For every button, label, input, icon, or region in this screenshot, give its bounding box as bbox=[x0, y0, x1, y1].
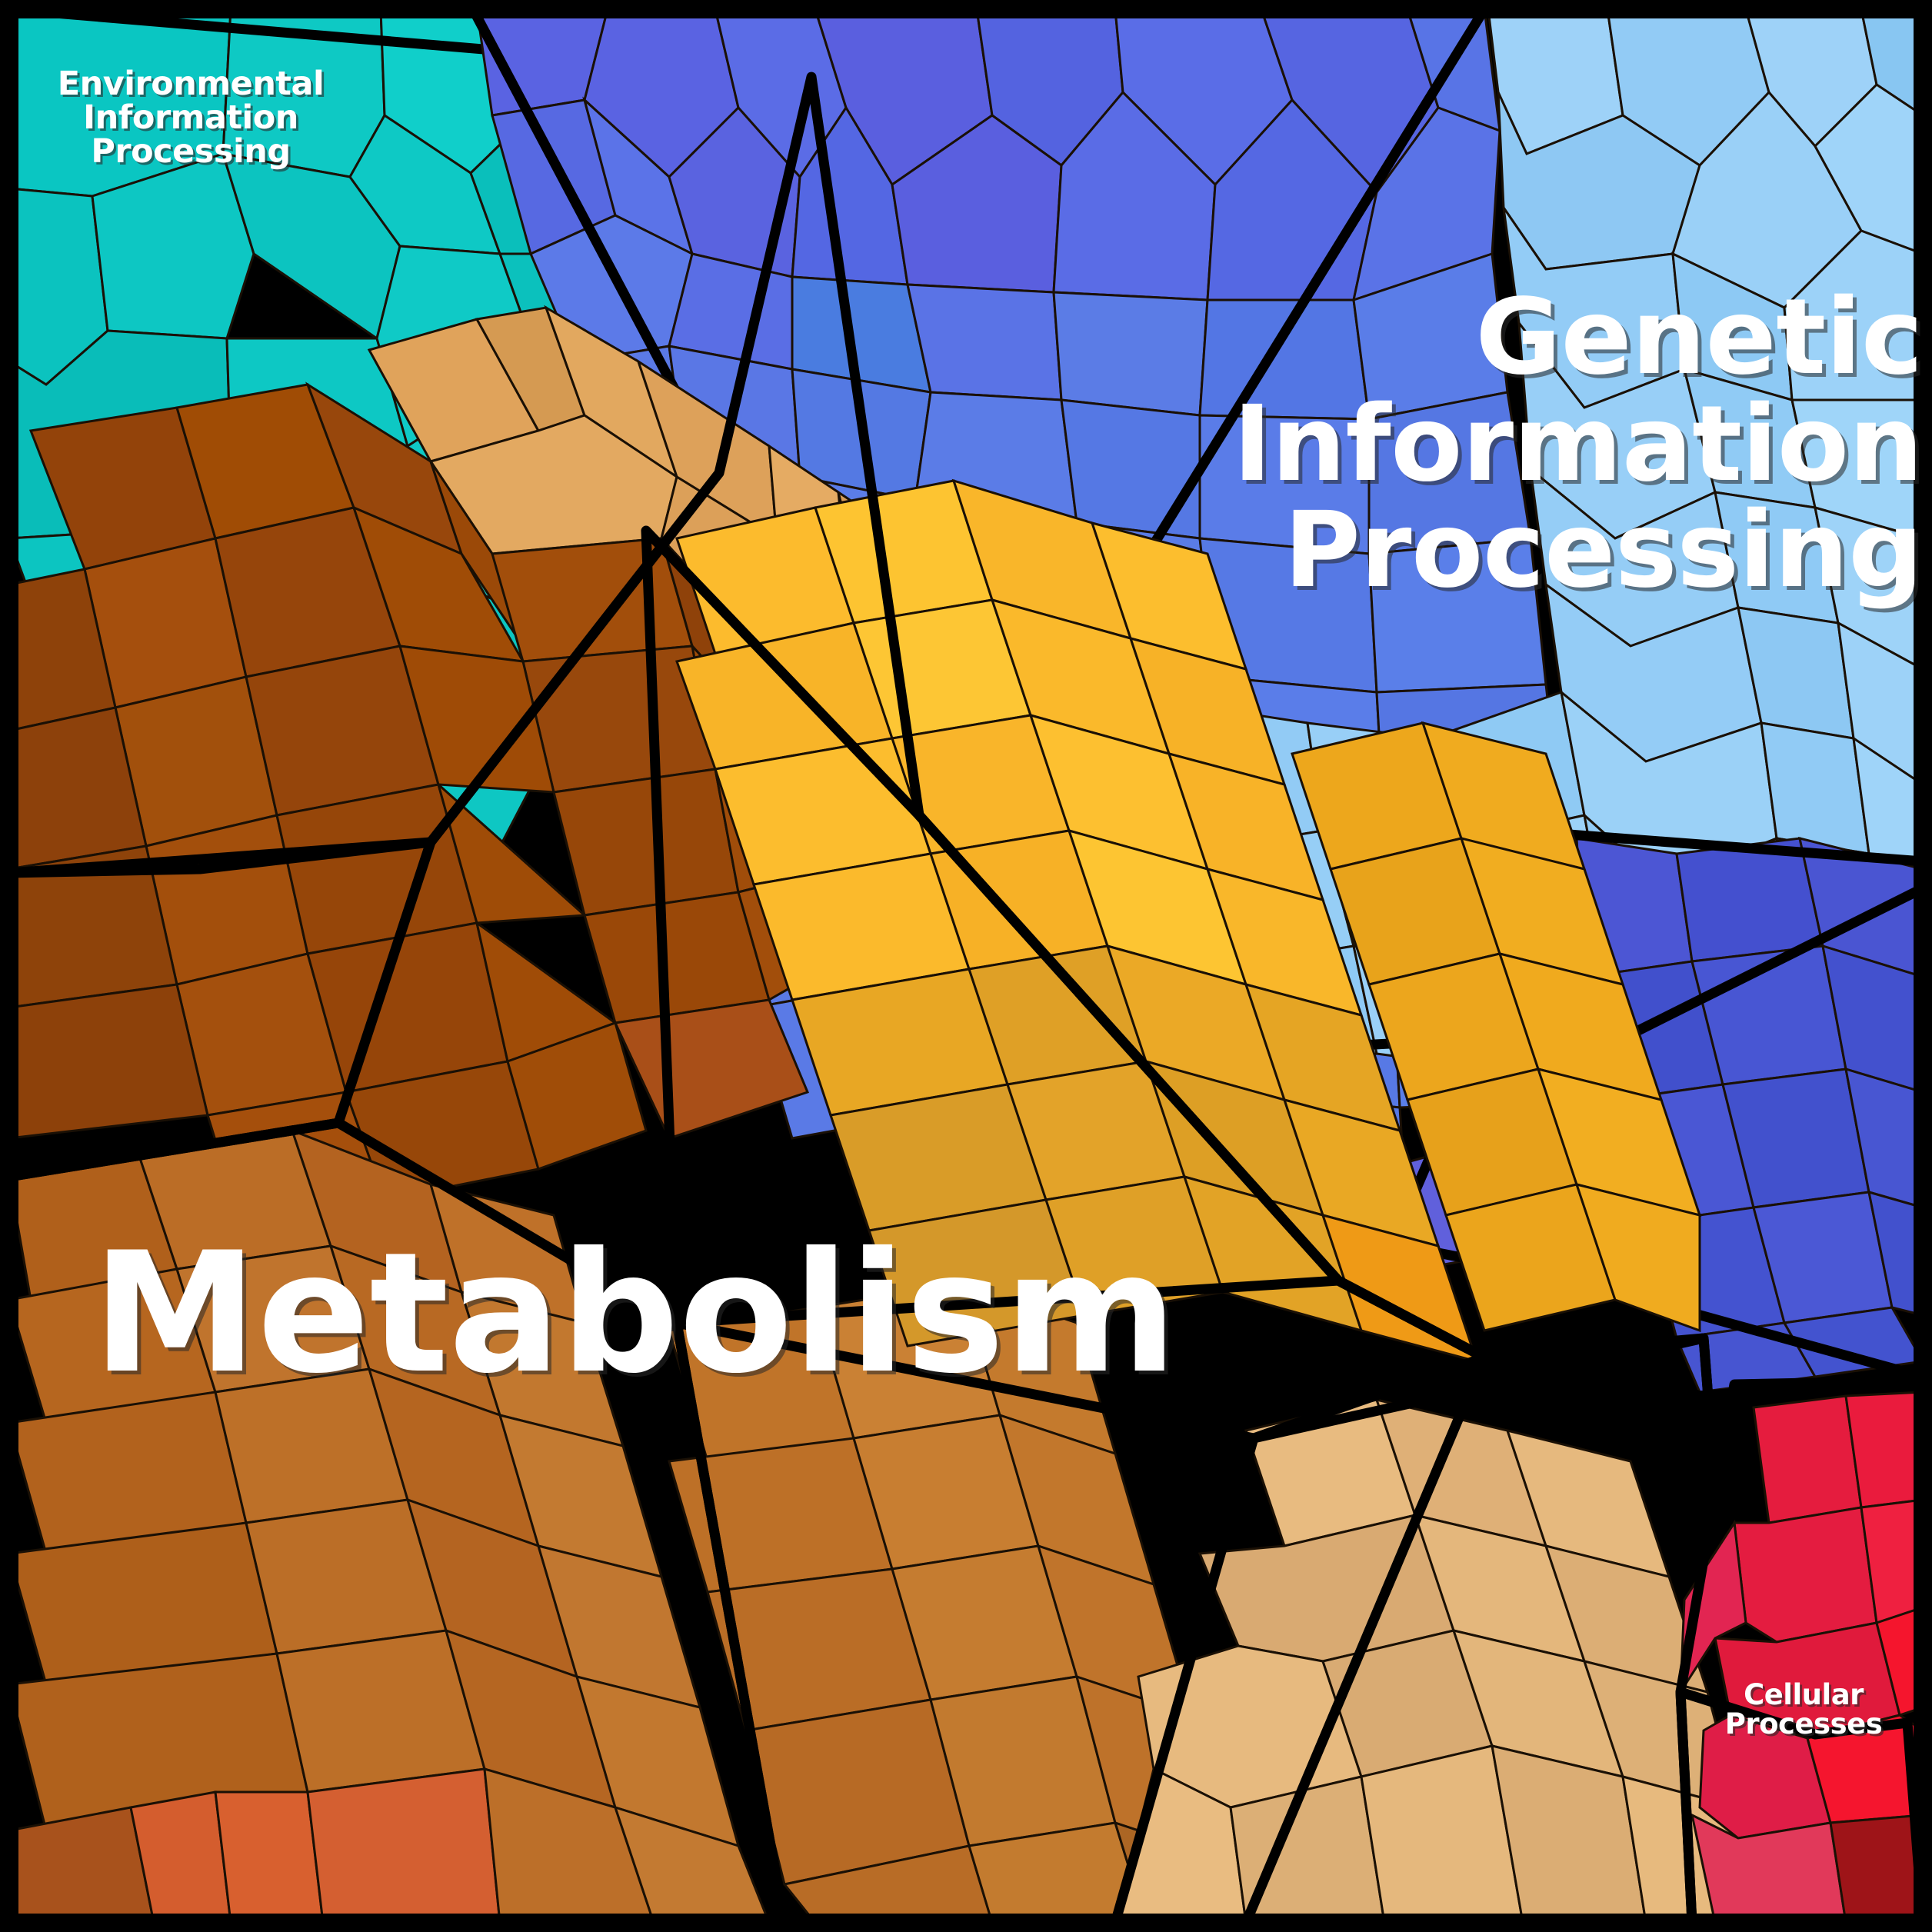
voronoi-treemap-svg bbox=[0, 0, 1932, 1932]
region-cellular-processes[interactable] bbox=[1681, 1381, 1923, 1923]
voronoi-treemap-figure: Environmental Information Processing Gen… bbox=[0, 0, 1932, 1932]
